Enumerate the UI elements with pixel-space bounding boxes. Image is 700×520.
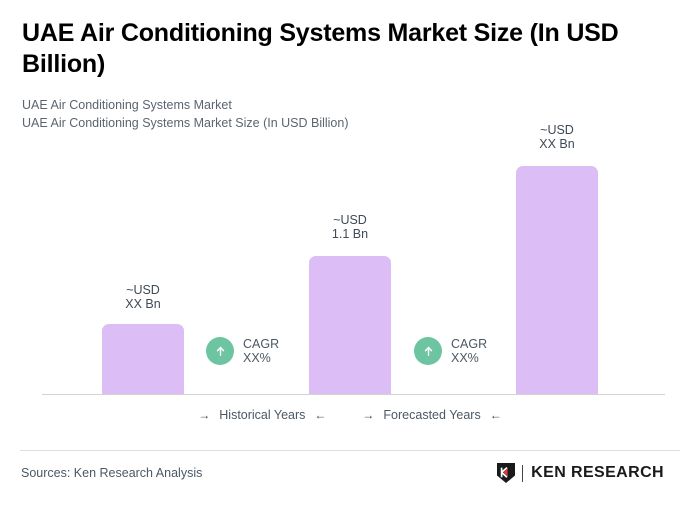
arrow-left-icon: ← [314, 409, 326, 421]
cagr-annotation-historical: CAGRXX% [206, 337, 279, 365]
bar-label-3-line1: ~USD [540, 123, 574, 137]
cagr-annotation-forecast: CAGRXX% [414, 337, 487, 365]
legend-item-historical-years: → Historical Years ← [198, 408, 326, 422]
chart-baseline [42, 394, 665, 395]
bar-base-year[interactable] [309, 256, 391, 394]
bar-label-3-line2: XX Bn [539, 137, 574, 151]
bar-label-1-line2: XX Bn [125, 297, 160, 311]
bar-label-1: ~USDXX Bn [102, 283, 184, 311]
arrow-left-icon: ← [490, 409, 502, 421]
bar-label-2-line1: ~USD [333, 213, 367, 227]
legend-label-forecasted-years: Forecasted Years [383, 408, 480, 422]
logo-wordmark: KEN RESEARCH [531, 464, 664, 482]
cagr-text-forecast: CAGRXX% [451, 337, 487, 365]
bar-forecast[interactable] [516, 166, 598, 394]
cagr-historical-line1: CAGR [243, 337, 279, 351]
bar-label-2-line2: 1.1 Bn [332, 227, 368, 241]
arrow-up-icon [414, 337, 442, 365]
logo-separator [522, 465, 523, 482]
legend-item-forecasted-years: → Forecasted Years ← [362, 408, 501, 422]
sources-text: Sources: Ken Research Analysis [21, 466, 202, 480]
cagr-forecast-line1: CAGR [451, 337, 487, 351]
legend-label-historical-years: Historical Years [219, 408, 305, 422]
bar-label-1-line1: ~USD [126, 283, 160, 297]
period-legend: → Historical Years ← → Forecasted Years … [0, 408, 700, 422]
cagr-text-historical: CAGRXX% [243, 337, 279, 365]
cagr-forecast-line2: XX% [451, 351, 479, 365]
cagr-historical-line2: XX% [243, 351, 271, 365]
arrow-right-icon: → [362, 409, 374, 421]
bar-label-2: ~USD1.1 Bn [309, 213, 391, 241]
shield-logo-icon [496, 462, 516, 484]
bar-historical[interactable] [102, 324, 184, 394]
bar-label-3: ~USDXX Bn [516, 123, 598, 151]
chart-footer: Sources: Ken Research Analysis KEN RESEA… [0, 451, 700, 520]
ken-research-logo: KEN RESEARCH [496, 462, 664, 484]
bar-chart-plot: ~USDXX Bn CAGRXX% ~USD1.1 Bn CAGRXX% ~US… [0, 0, 700, 440]
arrow-up-icon [206, 337, 234, 365]
arrow-right-icon: → [198, 409, 210, 421]
